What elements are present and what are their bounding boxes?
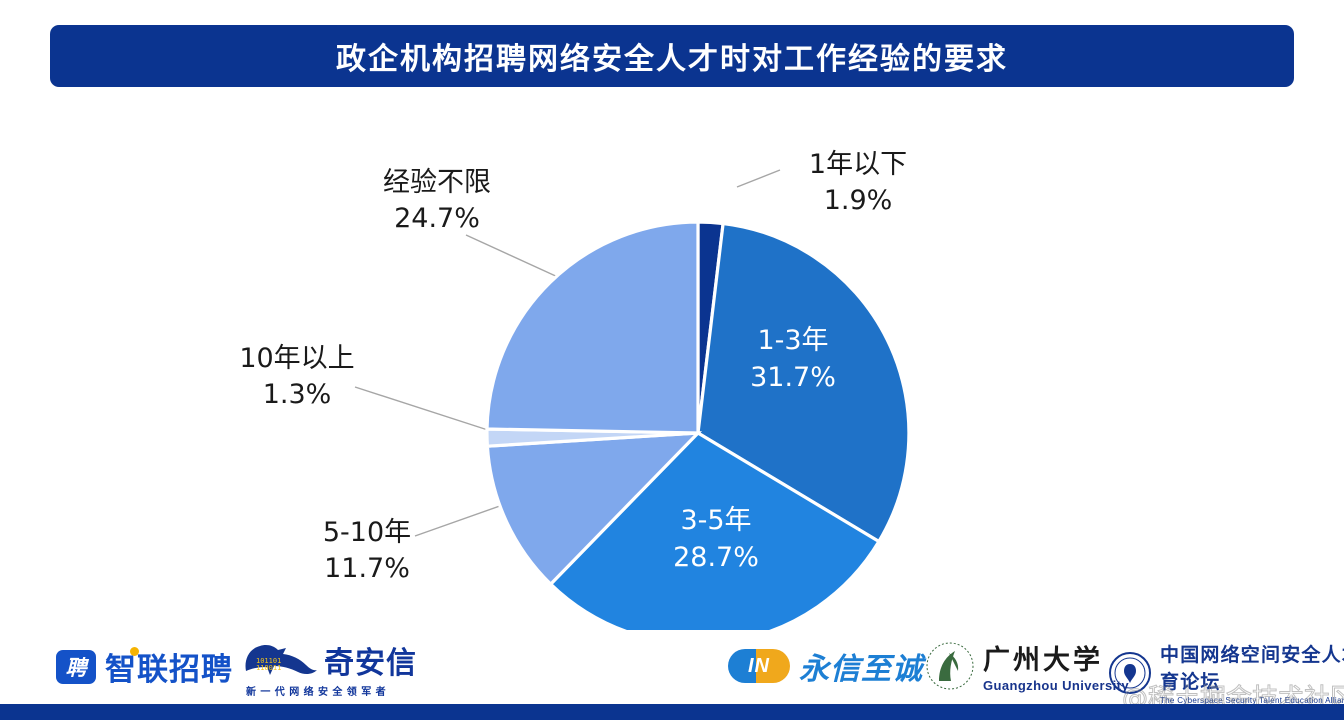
pie-label-5to10-name: 5-10年: [306, 515, 428, 551]
logo-guangzhou-university: 广州大学 Guangzhou University: [925, 638, 1129, 693]
zhaopin-wordmark: 智联招聘: [105, 644, 233, 689]
leader-line-wujingyan: [466, 235, 560, 278]
logo-yongxin: IN 永信至诚: [728, 644, 923, 688]
pie-label-1to3-value: 31.7%: [730, 360, 856, 397]
logo-cyber-talent-forum: 中国网络空间安全人才教育论坛 The Cyberspace Security T…: [1108, 640, 1344, 705]
forum-names: 中国网络空间安全人才教育论坛 The Cyberspace Security T…: [1160, 640, 1344, 705]
pie-label-3to5-value: 28.7%: [653, 540, 779, 577]
gzu-emblem-icon: [925, 641, 975, 691]
yongxin-mark-icon: IN: [728, 649, 790, 683]
bottom-accent-bar: [0, 704, 1344, 720]
forum-emblem-icon: [1108, 651, 1152, 695]
qianxin-row: 101101 110011 奇安信: [240, 638, 417, 682]
pie-label-3to5: 3-5年 28.7%: [653, 503, 779, 576]
pie-label-under1-value: 1.9%: [792, 183, 924, 219]
pie-label-over10-value: 1.3%: [232, 377, 362, 413]
pie-label-over10-name: 10年以上: [232, 341, 362, 377]
pie-label-3to5-name: 3-5年: [653, 503, 779, 540]
logo-zhaopin: 聘 智联招聘: [56, 644, 233, 689]
page-title: 政企机构招聘网络安全人才时对工作经验的要求: [336, 34, 1008, 78]
qianxin-wordmark: 奇安信: [324, 638, 417, 682]
pie-label-1to3-name: 1-3年: [730, 323, 856, 360]
sponsor-logo-bar: 聘 智联招聘 101101 110011 奇安信 新一代网络安全领军者 IN 永…: [0, 632, 1344, 704]
forum-name-cn: 中国网络空间安全人才教育论坛: [1160, 640, 1344, 694]
yongxin-wordmark: 永信至诚: [799, 644, 923, 688]
pie-label-under1: 1年以下 1.9%: [792, 147, 924, 218]
leader-line-over10: [355, 387, 494, 432]
qianxin-beast-icon: 101101 110011: [240, 641, 318, 679]
pie-label-under1-name: 1年以下: [792, 147, 924, 183]
pie-label-wujingyan: 经验不限 24.7%: [368, 165, 506, 236]
page-title-banner: 政企机构招聘网络安全人才时对工作经验的要求: [50, 25, 1294, 87]
pie-label-5to10: 5-10年 11.7%: [306, 515, 428, 586]
pie-label-wujingyan-value: 24.7%: [368, 201, 506, 237]
pie-label-wujingyan-name: 经验不限: [368, 165, 506, 201]
pie-label-5to10-value: 11.7%: [306, 551, 428, 587]
logo-qianxin: 101101 110011 奇安信 新一代网络安全领军者: [240, 638, 417, 698]
pie-slice-wujingyan[interactable]: [487, 222, 698, 433]
pie-label-1to3: 1-3年 31.7%: [730, 323, 856, 396]
zhaopin-mark-icon: 聘: [56, 650, 96, 684]
leader-line-under1: [737, 170, 780, 187]
pie-chart: 经验不限 24.7% 10年以上 1.3% 5-10年 11.7% 1年以下 1…: [0, 95, 1344, 630]
svg-text:110011: 110011: [256, 664, 281, 672]
qianxin-tagline: 新一代网络安全领军者: [246, 683, 390, 698]
zhaopin-dot-icon: [130, 647, 139, 656]
pie-label-over10: 10年以上 1.3%: [232, 341, 362, 412]
